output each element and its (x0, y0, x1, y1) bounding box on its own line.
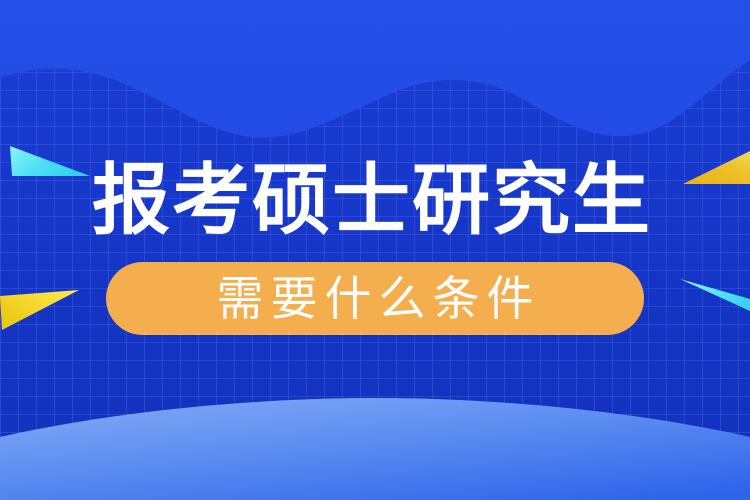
promo-banner: 报考硕士研究生 需要什么条件 (0, 0, 750, 500)
subtitle-pill-label: 需要什么条件 (210, 275, 541, 322)
banner-headline: 报考硕士研究生 (92, 152, 662, 248)
banner-content: 报考硕士研究生 需要什么条件 (0, 0, 750, 500)
subtitle-pill: 需要什么条件 (106, 262, 644, 335)
